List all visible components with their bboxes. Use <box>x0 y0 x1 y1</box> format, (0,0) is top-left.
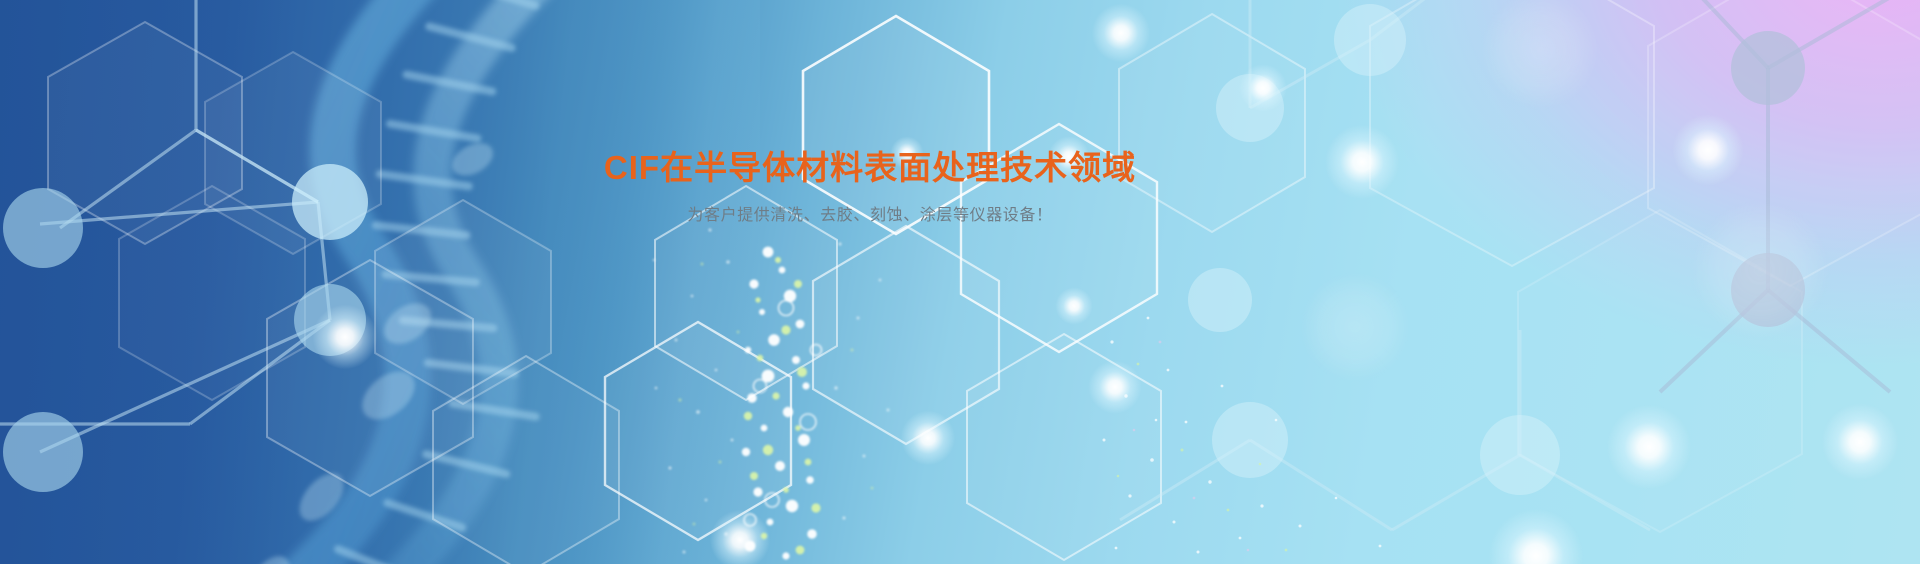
sparkle-field <box>1090 300 1510 564</box>
banner-headline: CIF在半导体材料表面处理技术领域 <box>0 148 1920 188</box>
hero-banner: CIF在半导体材料表面处理技术领域 为客户提供清洗、去胶、刻蚀、涂层等仪器设备！ <box>0 0 1920 564</box>
banner-text-block: CIF在半导体材料表面处理技术领域 为客户提供清洗、去胶、刻蚀、涂层等仪器设备！ <box>0 148 1920 227</box>
bubble-particle-cluster <box>640 200 1040 564</box>
banner-subtitle: 为客户提供清洗、去胶、刻蚀、涂层等仪器设备！ <box>0 205 1920 227</box>
